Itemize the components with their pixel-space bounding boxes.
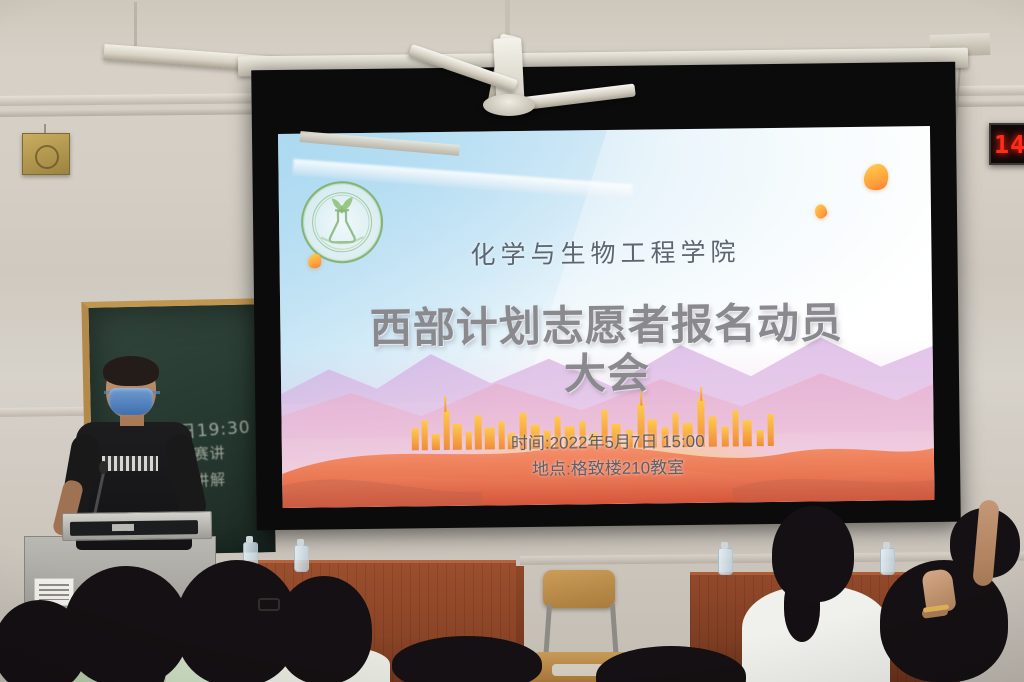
student-head — [64, 566, 188, 682]
ceiling-fan-hub — [483, 94, 535, 116]
water-bottle — [294, 545, 309, 572]
student-head — [772, 506, 854, 602]
bottle-cap — [246, 536, 253, 543]
presenter-shirt-print — [102, 456, 158, 471]
classroom-scene: 本周5月7日19:30 化学竞赛讲 座讲解 14:5 — [0, 0, 1024, 682]
bottle-body — [294, 545, 309, 572]
bottle-body — [718, 548, 733, 575]
slide-title-line-2: 大会 — [281, 346, 934, 402]
decorative-blob-medium-icon — [814, 203, 828, 219]
slide-title: 西部计划志愿者报名动员 大会 — [280, 298, 933, 402]
bottle-cap — [883, 542, 890, 549]
water-bottle — [880, 548, 895, 575]
wall-speaker-box — [22, 133, 70, 175]
lectern-device-label — [112, 524, 134, 531]
bottle-body — [880, 548, 895, 575]
chair-backrest — [543, 570, 615, 608]
projected-slide: 化学与生物工程学院 西部计划志愿者报名动员 大会 时间:2022年5月7日 15… — [278, 126, 935, 508]
bottle-cap — [721, 542, 728, 549]
slide-meta: 时间:2022年5月7日 15:00 地点:格致楼210教室 — [282, 426, 935, 485]
projector-screen: 化学与生物工程学院 西部计划志愿者报名动员 大会 时间:2022年5月7日 15… — [251, 62, 961, 531]
water-bottle — [718, 548, 733, 575]
decorative-blob-large-icon — [861, 160, 893, 193]
presenter-face-mask — [109, 388, 153, 415]
presenter-hair — [103, 356, 159, 386]
student-glasses-icon — [258, 598, 280, 611]
clock-digits: 14:5 — [994, 130, 1024, 159]
microphone-head-icon — [99, 461, 108, 474]
slide-organization-line: 化学与生物工程学院 — [279, 230, 931, 274]
tube-light-rod — [134, 2, 137, 46]
student-head — [276, 576, 372, 682]
wall-led-clock: 14:5 — [989, 123, 1024, 165]
slide-title-line-1: 西部计划志愿者报名动员 — [280, 298, 933, 354]
bottle-cap — [297, 539, 304, 546]
